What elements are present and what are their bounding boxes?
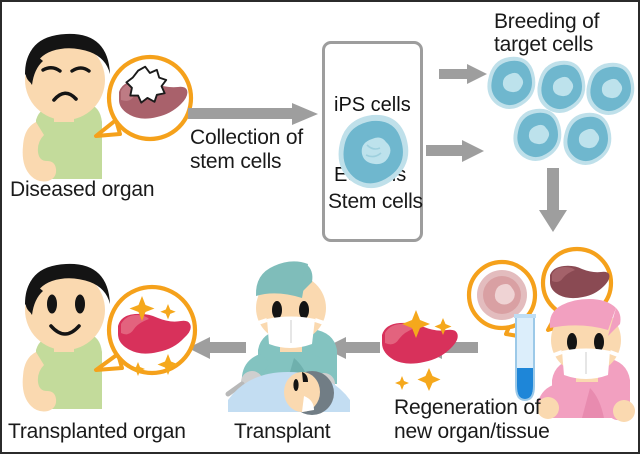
- transplanted-organ-bubble: [94, 278, 206, 386]
- label-transplant: Transplant: [234, 420, 330, 444]
- label-breeding-line2: target cells: [494, 33, 593, 57]
- arrow-stemcell-to-cluster: [426, 140, 484, 162]
- test-tube-icon: [510, 314, 540, 404]
- researcher-icon: [538, 292, 640, 418]
- label-collection-line1: Collection of: [190, 126, 303, 150]
- diseased-organ-bubble: [94, 48, 198, 148]
- label-diseased-organ: Diseased organ: [10, 178, 154, 202]
- label-regeneration-line2: new organ/tissue: [394, 420, 550, 444]
- label-collection-line2: stem cells: [190, 150, 281, 174]
- stem-cell-icon: [334, 112, 412, 190]
- healthy-liver-regenerated-icon: [372, 302, 468, 394]
- label-stem-cells: Stem cells: [328, 190, 423, 214]
- surgeon-icon: [240, 252, 372, 412]
- arrow-collection: [188, 103, 318, 125]
- label-regeneration-line1: Regeneration of: [394, 396, 540, 420]
- label-breeding-line1: Breeding of: [494, 10, 599, 34]
- diagram-canvas: Diseased organ Collection of stem cells …: [0, 0, 640, 454]
- cell-cluster-icon: [484, 56, 636, 164]
- arrow-down-to-regeneration: [539, 168, 567, 232]
- arrow-ips-to-cluster: [439, 64, 487, 84]
- label-transplanted-organ: Transplanted organ: [8, 420, 186, 444]
